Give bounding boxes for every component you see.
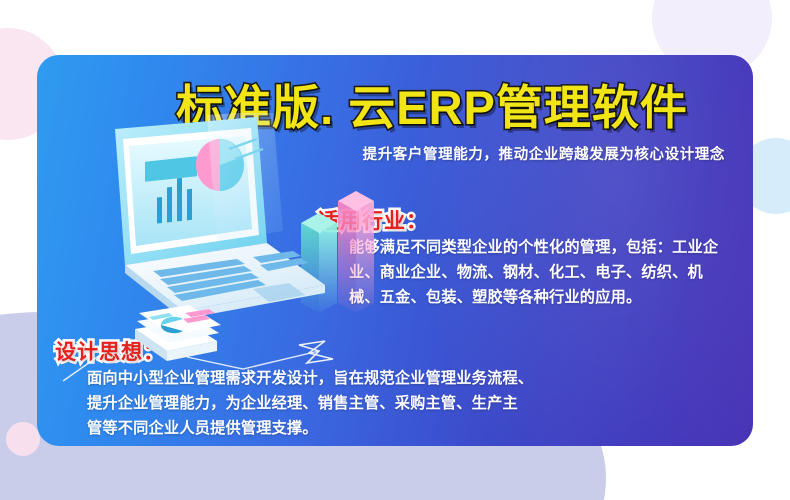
body-line: 械、五金、包装、塑胶等各种行业的应用。 bbox=[349, 285, 718, 310]
laptop-screen bbox=[115, 113, 283, 265]
isometric-laptop-illustration bbox=[57, 113, 387, 383]
body-line: 能够满足不同类型企业的个性化的管理，包括：工业企 bbox=[349, 235, 718, 260]
page-subtitle: 提升客户管理能力，推动企业跨越发展为核心设计理念 bbox=[363, 143, 725, 164]
document-stack bbox=[135, 305, 221, 361]
decor-circle-pink-bottomleft bbox=[6, 422, 40, 456]
body-line: 管等不同企业人员提供管理支撑。 bbox=[87, 416, 533, 441]
floating-bar-pink bbox=[338, 191, 374, 313]
promo-banner-card: 标准版. 云ERP管理软件 提升客户管理能力，推动企业跨越发展为核心设计理念 适… bbox=[37, 55, 753, 446]
section-body-industry: 能够满足不同类型企业的个性化的管理，包括：工业企 业、商业企业、物流、钢材、化工… bbox=[349, 235, 718, 310]
body-line: 提升企业管理能力，为企业经理、销售主管、采购主管、生产主 bbox=[87, 391, 533, 416]
body-line: 业、商业企业、物流、钢材、化工、电子、纺织、机 bbox=[349, 260, 718, 285]
